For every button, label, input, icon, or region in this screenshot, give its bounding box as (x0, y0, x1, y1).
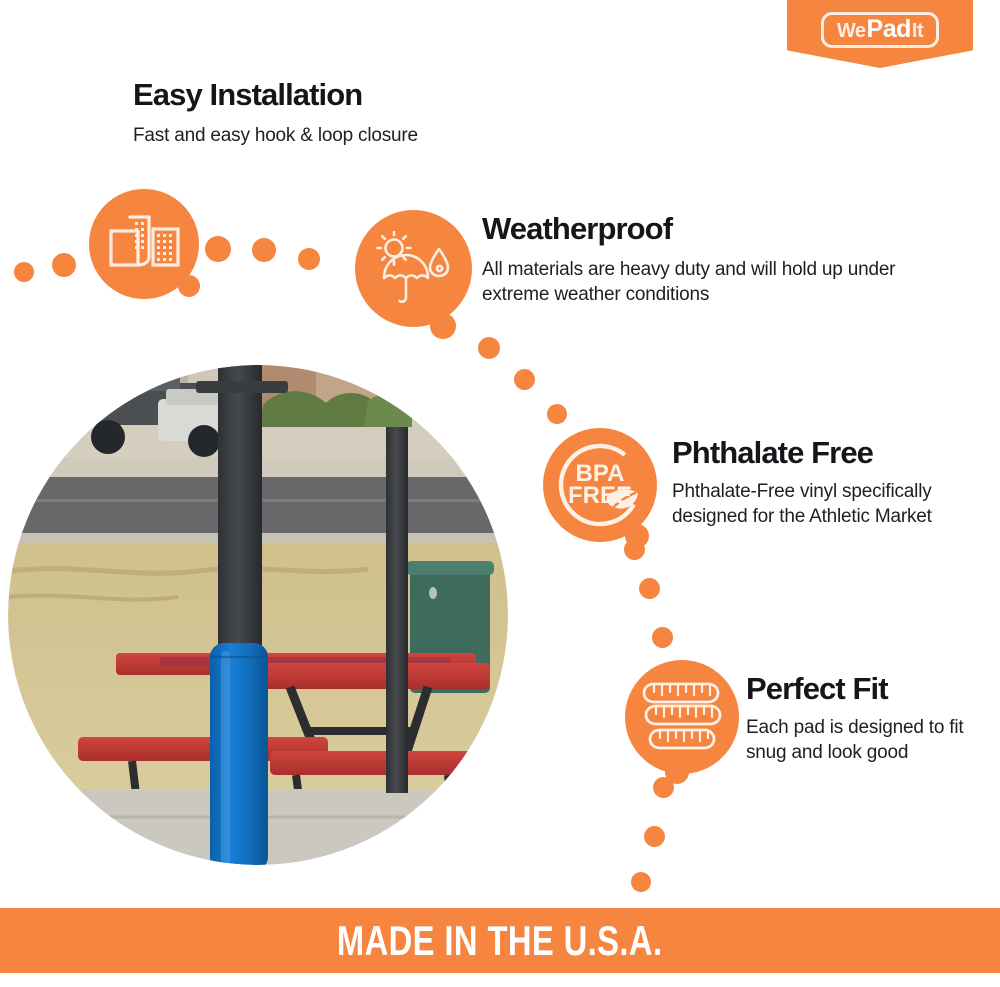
made-in-usa-text: MADE IN THE U.S.A. (337, 917, 663, 965)
hook-and-loop-icon (89, 189, 199, 299)
trail-dot (547, 404, 567, 424)
trail-dot (205, 236, 231, 262)
feature-block-perfect-fit: Perfect Fit Each pad is designed to fit … (746, 672, 986, 766)
feature-block-weatherproof: Weatherproof All materials are heavy dut… (482, 212, 912, 308)
sun-umbrella-raindrop-icon (355, 210, 472, 327)
trail-dot (252, 238, 276, 262)
feature-title-weatherproof: Weatherproof (482, 212, 912, 246)
trail-dot (644, 826, 665, 847)
product-photo-blue-pole-pad (8, 365, 508, 865)
bpa-badge-line-2: FREE (568, 485, 632, 507)
trail-dot (514, 369, 535, 390)
logo-text-we: We (837, 21, 866, 41)
made-in-usa-banner: MADE IN THE U.S.A. (0, 908, 1000, 973)
feature-title-perfect-fit: Perfect Fit (746, 672, 986, 706)
logo-text-it: It (912, 21, 923, 41)
measuring-tape-icon (625, 660, 739, 774)
feature-description-weatherproof: All materials are heavy duty and will ho… (482, 257, 912, 308)
feature-description-easy-installation: Fast and easy hook & loop closure (133, 123, 418, 148)
feature-description-perfect-fit: Each pad is designed to fit snug and loo… (746, 715, 986, 766)
bpa-free-leaf-icon: BPA FREE (543, 428, 657, 542)
feature-description-phthalate-free: Phthalate-Free vinyl specifically design… (672, 479, 972, 530)
brand-logo-box: We Pad It (821, 12, 939, 48)
trail-dot (14, 262, 34, 282)
feature-block-phthalate-free: Phthalate Free Phthalate-Free vinyl spec… (672, 436, 972, 530)
feature-block-easy-installation: Easy Installation Fast and easy hook & l… (133, 78, 418, 148)
logo-text-pad: Pad (866, 17, 912, 42)
bpa-free-badge-text: BPA FREE (543, 428, 657, 542)
trail-dot (52, 253, 76, 277)
trail-dot (639, 578, 660, 599)
feature-title-easy-installation: Easy Installation (133, 78, 418, 112)
infographic-page: We Pad It Easy Installation Fast and eas… (0, 0, 1000, 987)
trail-dot (631, 872, 651, 892)
trail-dot (298, 248, 320, 270)
trail-dot (478, 337, 500, 359)
brand-logo-ribbon: We Pad It (787, 0, 973, 68)
feature-title-phthalate-free: Phthalate Free (672, 436, 972, 470)
trail-dot (652, 627, 673, 648)
